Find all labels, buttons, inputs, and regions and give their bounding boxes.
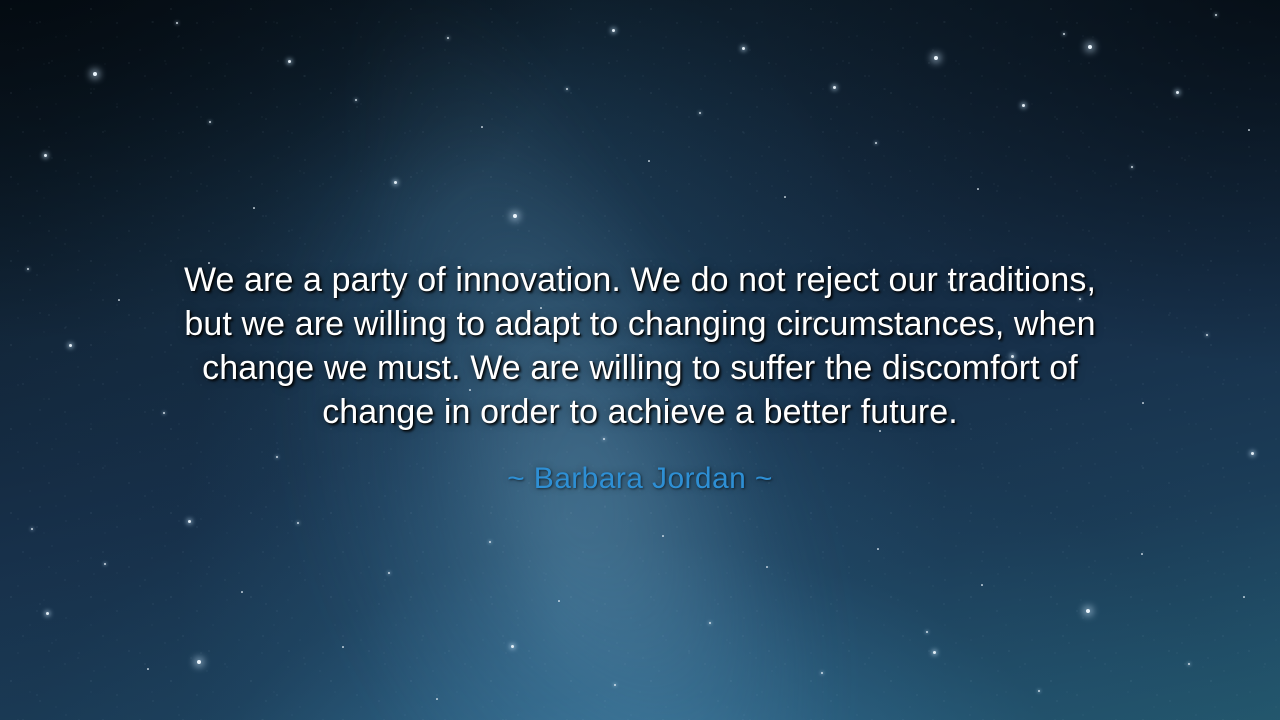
- quote-block: We are a party of innovation. We do not …: [0, 258, 1280, 498]
- quote-author: ~ Barbara Jordan ~: [120, 460, 1160, 498]
- quote-text: We are a party of innovation. We do not …: [120, 258, 1160, 434]
- quote-image-card: We are a party of innovation. We do not …: [0, 0, 1280, 720]
